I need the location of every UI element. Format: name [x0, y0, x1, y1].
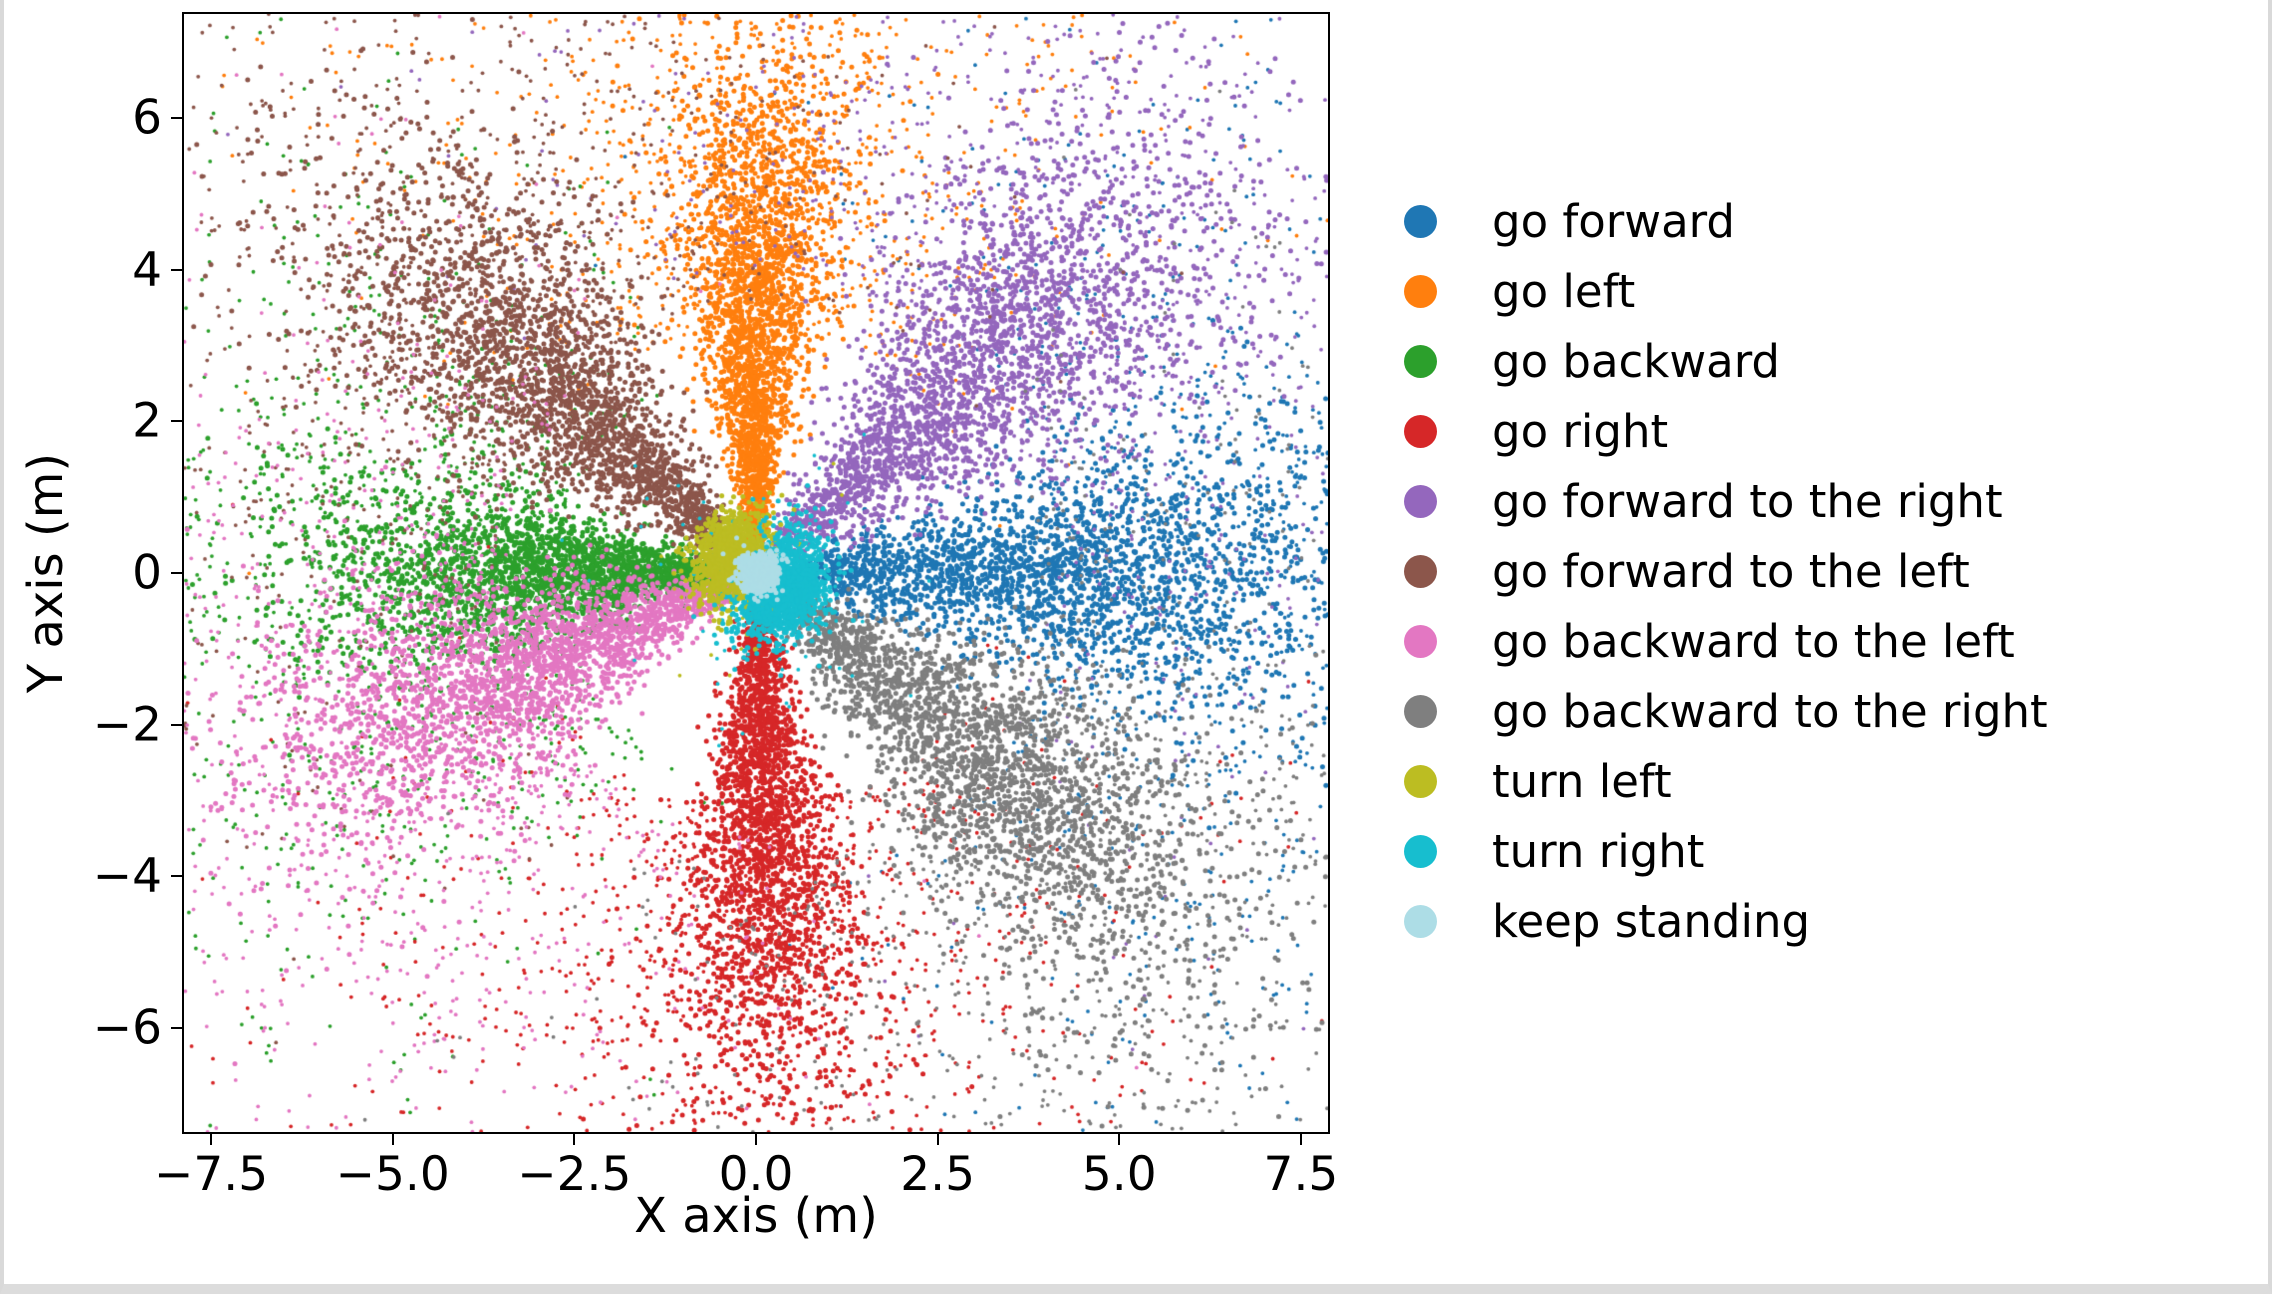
legend-item-label: go left — [1492, 269, 1635, 314]
legend-marker-dot-icon — [1404, 275, 1437, 308]
legend-item[interactable]: go backward to the right — [1404, 676, 2234, 746]
x-tick-label: −7.5 — [154, 1151, 268, 1198]
legend-item[interactable]: go forward to the right — [1404, 466, 2234, 536]
matplotlib-figure: −7.5−5.0−2.50.02.55.07.5−6−4−20246 X axi… — [4, 0, 2268, 1284]
legend-item-label: keep standing — [1492, 899, 1810, 944]
y-tick-label: 6 — [132, 95, 162, 142]
y-tick-mark — [171, 1027, 182, 1029]
legend-item[interactable]: turn left — [1404, 746, 2234, 816]
x-tick-label: 5.0 — [1082, 1151, 1157, 1198]
x-tick-mark — [937, 1134, 939, 1145]
legend-marker-dot-icon — [1404, 415, 1437, 448]
legend-marker-dot-icon — [1404, 765, 1437, 798]
x-tick-label: 7.5 — [1264, 1151, 1339, 1198]
x-tick-mark — [1118, 1134, 1120, 1145]
figure-window: −7.5−5.0−2.50.02.55.07.5−6−4−20246 X axi… — [0, 0, 2272, 1294]
x-tick-label: 2.5 — [900, 1151, 975, 1198]
y-tick-mark — [171, 572, 182, 574]
x-tick-mark — [210, 1134, 212, 1145]
legend-item-label: go backward to the right — [1492, 689, 2048, 734]
y-axis-label: Y axis (m) — [18, 453, 74, 693]
legend-marker-dot-icon — [1404, 345, 1437, 378]
y-tick-label: −6 — [93, 1004, 162, 1051]
x-tick-label: −5.0 — [336, 1151, 450, 1198]
legend-item-label: turn right — [1492, 829, 1704, 874]
legend-item[interactable]: go backward — [1404, 326, 2234, 396]
x-tick-mark — [1300, 1134, 1302, 1145]
legend-item-label: turn left — [1492, 759, 1672, 804]
scatter-plot-axes[interactable] — [182, 12, 1330, 1134]
legend-item-label: go backward to the left — [1492, 619, 2015, 664]
legend-item[interactable]: go forward to the left — [1404, 536, 2234, 606]
y-tick-label: −4 — [93, 853, 162, 900]
legend-item[interactable]: go backward to the left — [1404, 606, 2234, 676]
legend-marker-dot-icon — [1404, 905, 1437, 938]
y-tick-mark — [171, 875, 182, 877]
y-tick-mark — [171, 724, 182, 726]
legend-item-label: go forward to the right — [1492, 479, 2003, 524]
x-tick-mark — [755, 1134, 757, 1145]
legend-item-label: go right — [1492, 409, 1668, 454]
legend-item[interactable]: go forward — [1404, 186, 2234, 256]
legend-marker-dot-icon — [1404, 485, 1437, 518]
y-tick-mark — [171, 117, 182, 119]
y-tick-label: 4 — [132, 246, 162, 293]
legend-marker-dot-icon — [1404, 695, 1437, 728]
legend-marker-dot-icon — [1404, 835, 1437, 868]
legend-item-label: go forward to the left — [1492, 549, 1970, 594]
legend-item-label: go forward — [1492, 199, 1735, 244]
x-tick-label: −2.5 — [517, 1151, 631, 1198]
legend-marker-dot-icon — [1404, 205, 1437, 238]
y-tick-mark — [171, 420, 182, 422]
legend-item[interactable]: turn right — [1404, 816, 2234, 886]
legend-marker-dot-icon — [1404, 555, 1437, 588]
legend-item[interactable]: go right — [1404, 396, 2234, 466]
y-tick-label: 0 — [132, 550, 162, 597]
legend-item[interactable]: go left — [1404, 256, 2234, 326]
legend-item-label: go backward — [1492, 339, 1780, 384]
y-tick-label: 2 — [132, 398, 162, 445]
y-tick-label: −2 — [93, 701, 162, 748]
legend-marker-dot-icon — [1404, 625, 1437, 658]
legend-item[interactable]: keep standing — [1404, 886, 2234, 956]
y-tick-mark — [171, 269, 182, 271]
legend: go forwardgo leftgo backwardgo rightgo f… — [1404, 186, 2234, 956]
x-tick-mark — [392, 1134, 394, 1145]
x-axis-label: X axis (m) — [634, 1188, 878, 1244]
x-tick-mark — [573, 1134, 575, 1145]
scatter-points-canvas — [184, 14, 1328, 1132]
